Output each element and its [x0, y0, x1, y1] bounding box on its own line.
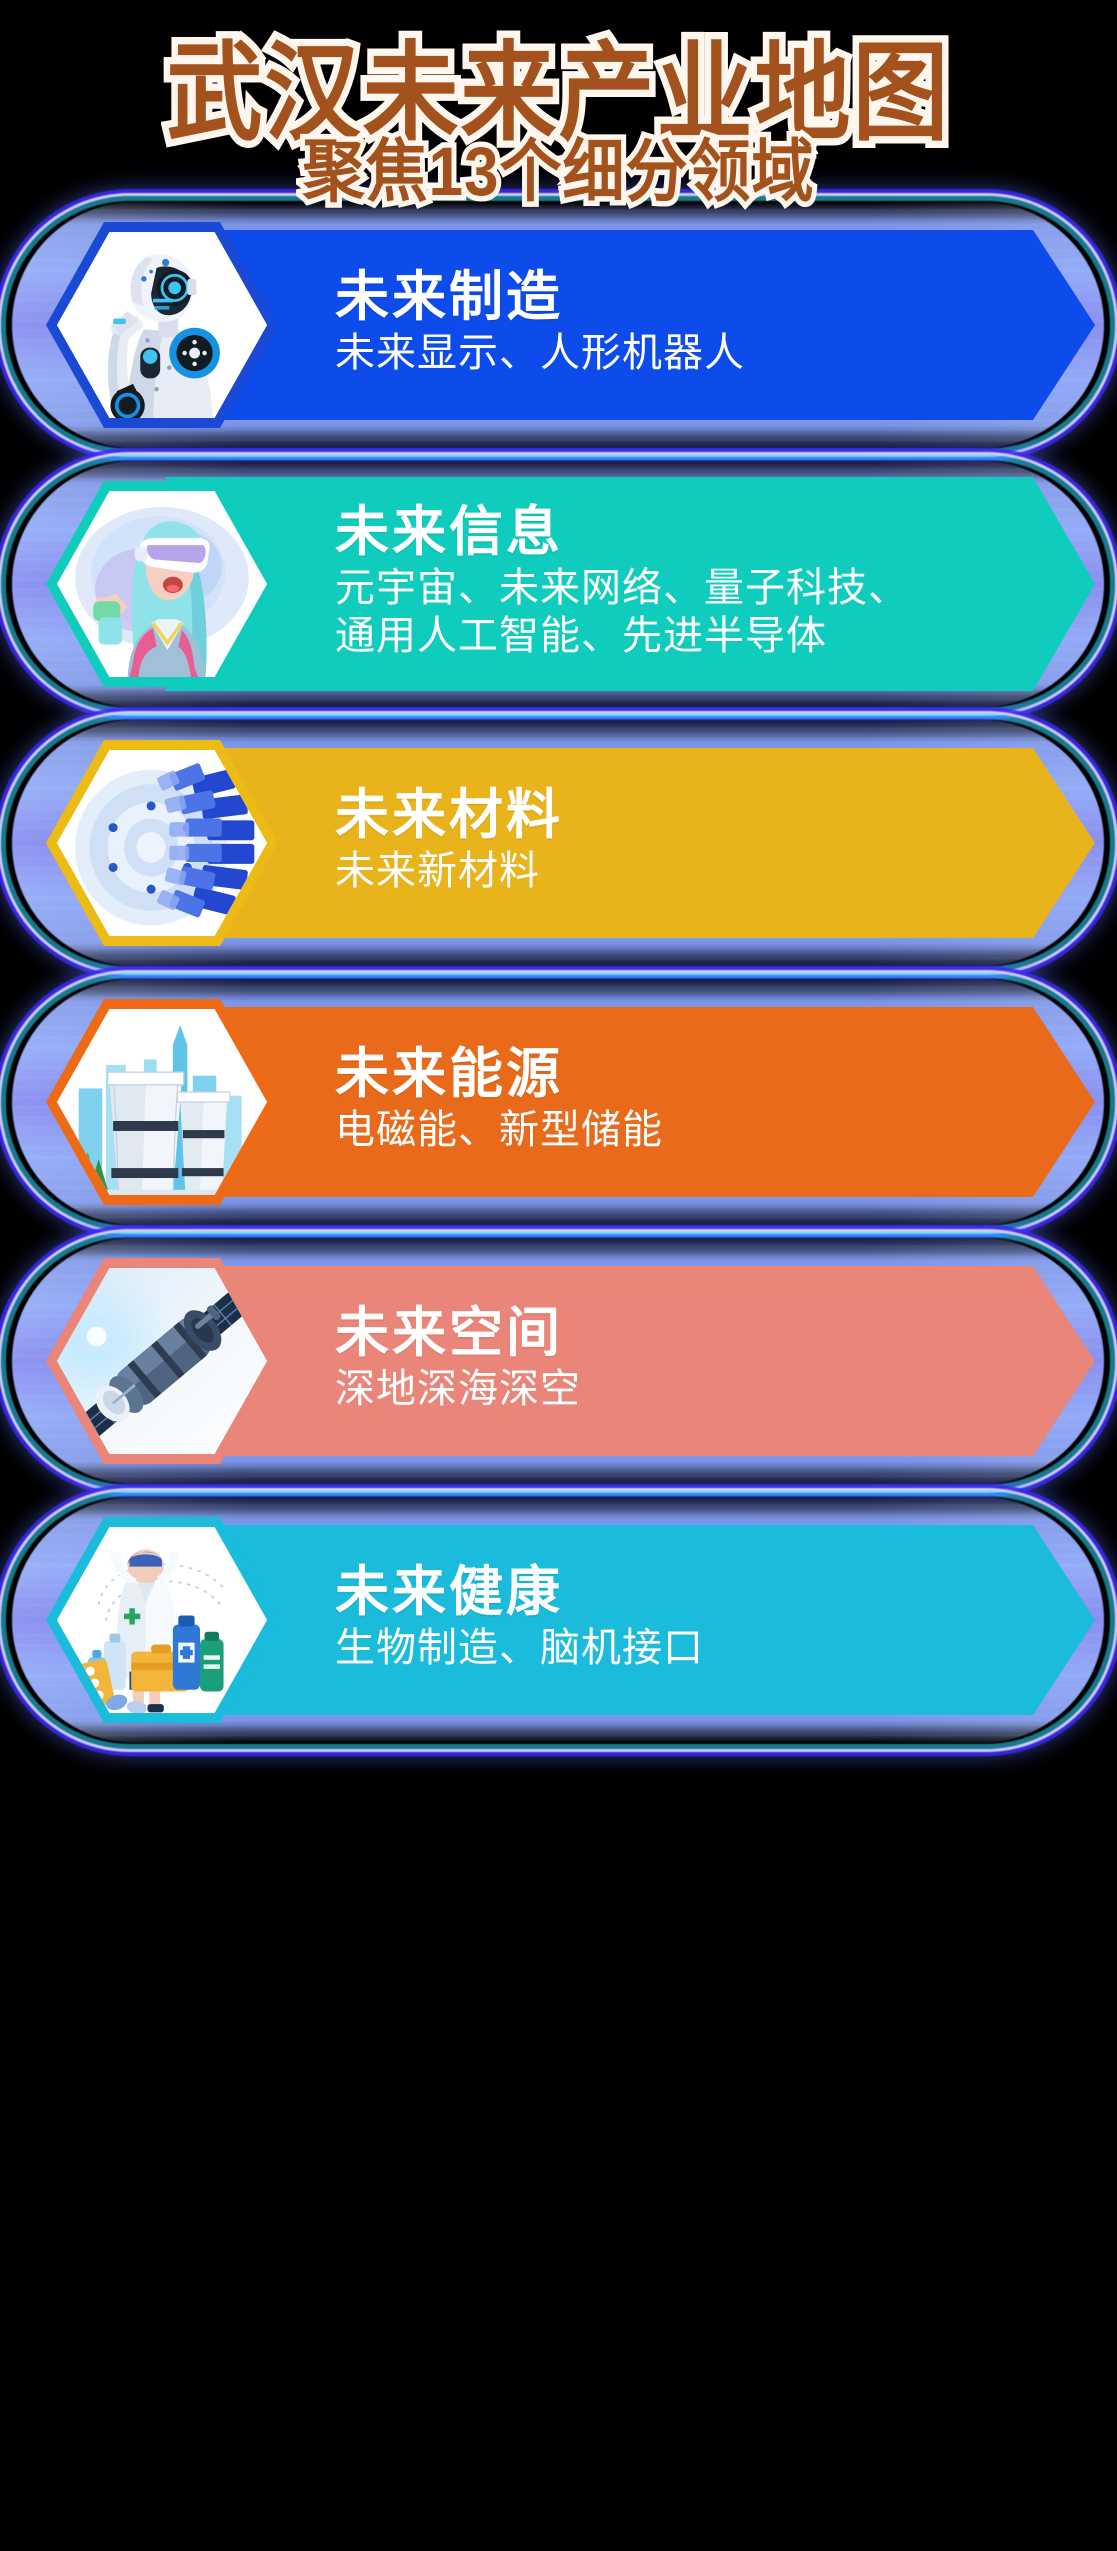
card-banner: 未来制造 未来显示、人形机器人: [165, 230, 1095, 420]
card-banner: 未来健康 生物制造、脑机接口: [165, 1525, 1095, 1715]
card-banner: 未来空间 深地深海深空: [165, 1266, 1095, 1456]
card-banner: 未来信息 元宇宙、未来网络、量子科技、 通用人工智能、先进半导体: [165, 477, 1095, 691]
card-subtitle-line: 电磁能、新型储能: [335, 1106, 1095, 1154]
card-title: 未来健康: [335, 1564, 1095, 1621]
industry-card-future-manufacturing[interactable]: 未来制造 未来显示、人形机器人: [0, 196, 1117, 454]
card-title: 未来空间: [335, 1305, 1095, 1362]
industry-card-future-information[interactable]: 未来信息 元宇宙、未来网络、量子科技、 通用人工智能、先进半导体: [0, 455, 1117, 713]
card-hex-icon: [46, 222, 278, 428]
page-title: 武汉未来产业地图: [0, 40, 1117, 148]
card-hex-icon: [46, 999, 278, 1205]
card-subtitle-line: 元宇宙、未来网络、量子科技、: [335, 564, 1095, 612]
card-subtitle-line: 通用人工智能、先进半导体: [335, 612, 1095, 660]
industry-card-list: 未来制造 未来显示、人形机器人: [0, 196, 1117, 1750]
industry-card-future-health[interactable]: 未来健康 生物制造、脑机接口: [0, 1491, 1117, 1749]
card-banner: 未来材料 未来新材料: [165, 748, 1095, 938]
card-hex-icon: [46, 1517, 278, 1723]
card-subtitle-line: 生物制造、脑机接口: [335, 1624, 1095, 1672]
card-hex-icon: [46, 481, 278, 687]
industry-card-future-space[interactable]: 未来空间 深地深海深空: [0, 1232, 1117, 1490]
card-subtitle-line: 深地深海深空: [335, 1365, 1095, 1413]
industry-card-future-materials[interactable]: 未来材料 未来新材料: [0, 714, 1117, 972]
card-subtitle-line: 未来显示、人形机器人: [335, 329, 1095, 377]
card-hex-icon: [46, 1258, 278, 1464]
page-subtitle: 聚焦13个细分领域: [0, 139, 1117, 207]
header: 武汉未来产业地图 聚焦13个细分领域: [0, 0, 1117, 210]
card-title: 未来材料: [335, 787, 1095, 844]
card-banner: 未来能源 电磁能、新型储能: [165, 1007, 1095, 1197]
card-title: 未来能源: [335, 1046, 1095, 1103]
card-subtitle-line: 未来新材料: [335, 847, 1095, 895]
card-title: 未来信息: [335, 504, 1095, 561]
card-title: 未来制造: [335, 269, 1095, 326]
card-hex-icon: [46, 740, 278, 946]
industry-card-future-energy[interactable]: 未来能源 电磁能、新型储能: [0, 973, 1117, 1231]
